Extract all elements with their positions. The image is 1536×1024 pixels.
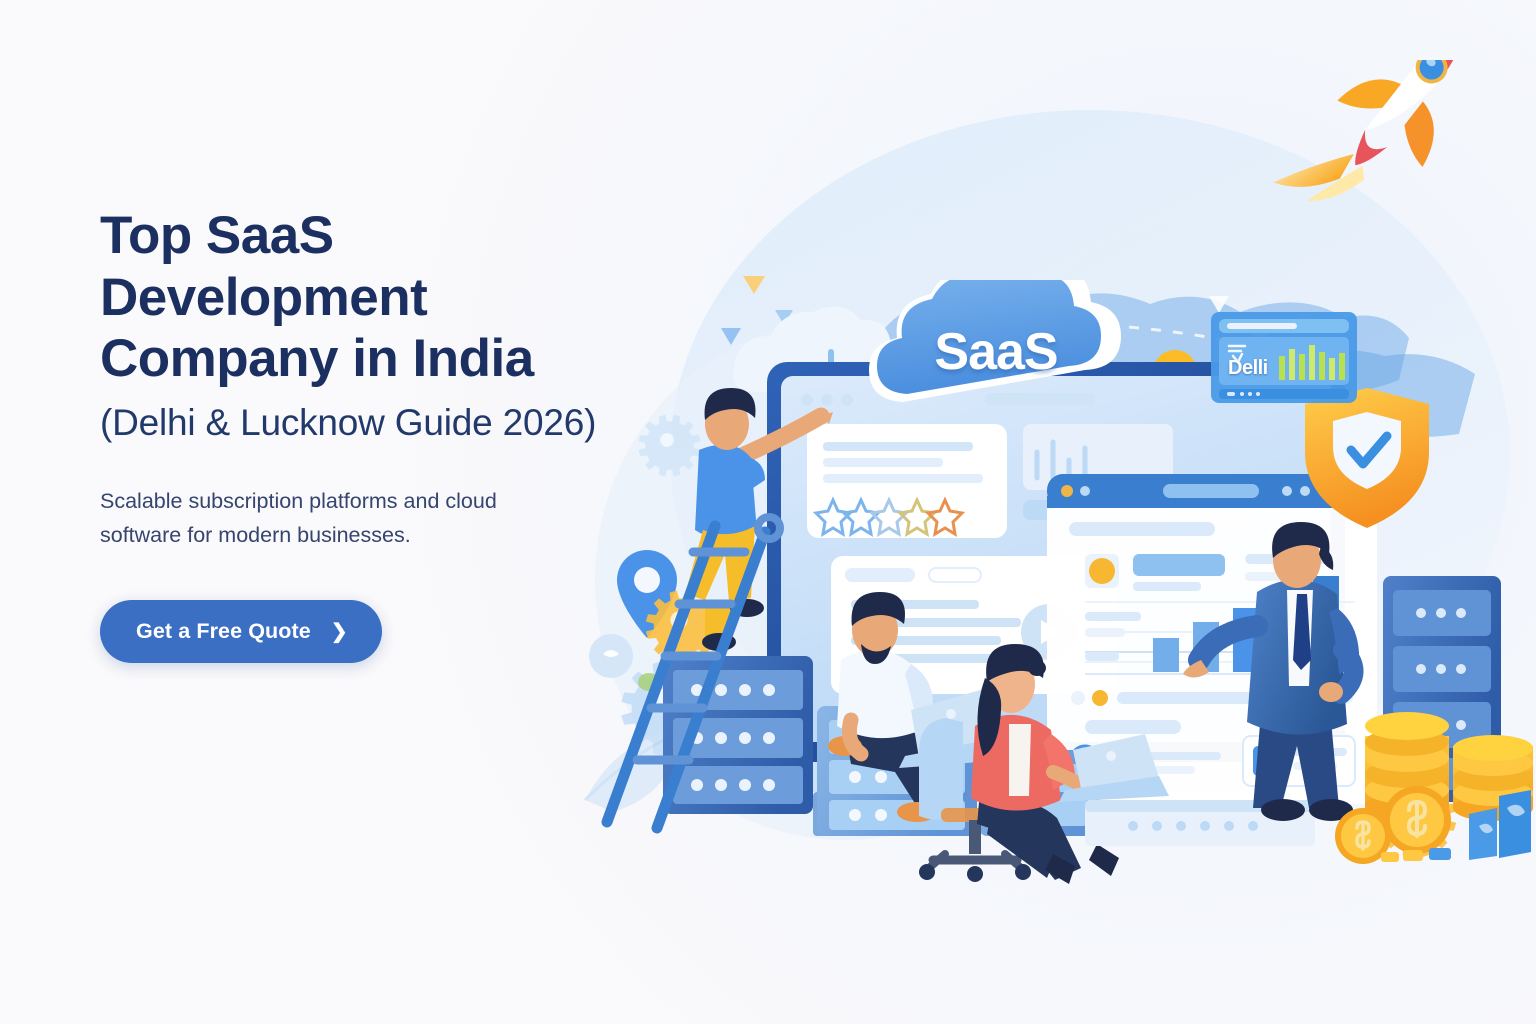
cta-label: Get a Free Quote [136, 619, 311, 644]
dollar-coin-icon [1383, 786, 1451, 854]
get-a-free-quote-button[interactable]: Get a Free Quote ❯ [100, 600, 382, 663]
hero-tagline: Scalable subscription platforms and clou… [100, 485, 570, 553]
saas-badge-label: SaaS [863, 280, 1129, 410]
review-card [807, 424, 1007, 538]
delhi-card-label: Delli [1228, 357, 1268, 380]
hero-banner: Top SaaS Development Company in India (D… [0, 0, 1536, 1024]
chevron-right-icon: ❯ [331, 622, 348, 642]
bar-1 [1153, 638, 1179, 672]
hero-illustration: SaaS [545, 60, 1536, 890]
saas-cloud-badge: SaaS [863, 280, 1129, 410]
delhi-dashboard-card: Delli [1209, 310, 1359, 405]
